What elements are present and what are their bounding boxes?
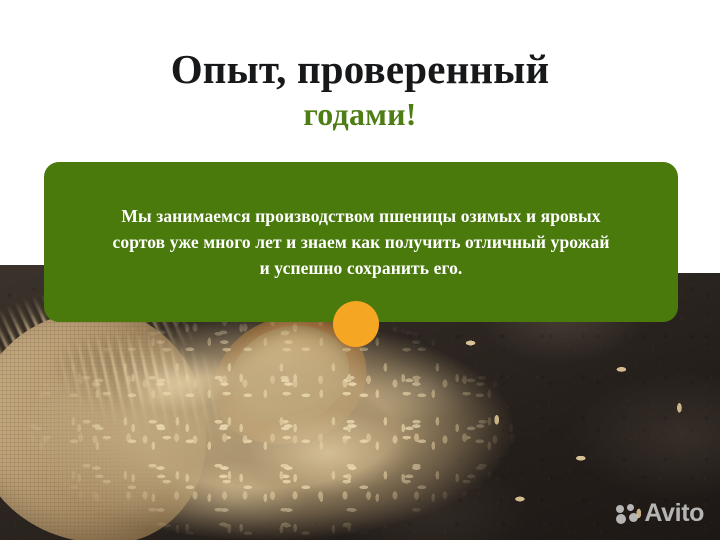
page-title: Опыт, проверенный годами! xyxy=(0,49,720,130)
description-card: Мы занимаемся производством пшеницы озим… xyxy=(44,162,678,322)
avito-wordmark: Avito xyxy=(644,501,704,526)
avito-logo-icon xyxy=(616,504,638,524)
accent-circle xyxy=(333,301,379,347)
description-text: Мы занимаемся производством пшеницы озим… xyxy=(111,203,611,281)
headline-line-accent: годами! xyxy=(0,98,720,131)
avito-watermark: Avito xyxy=(616,501,704,526)
promo-banner: Опыт, проверенный годами! Мы занимаемся … xyxy=(0,0,720,540)
headline-line-primary: Опыт, проверенный xyxy=(0,49,720,91)
